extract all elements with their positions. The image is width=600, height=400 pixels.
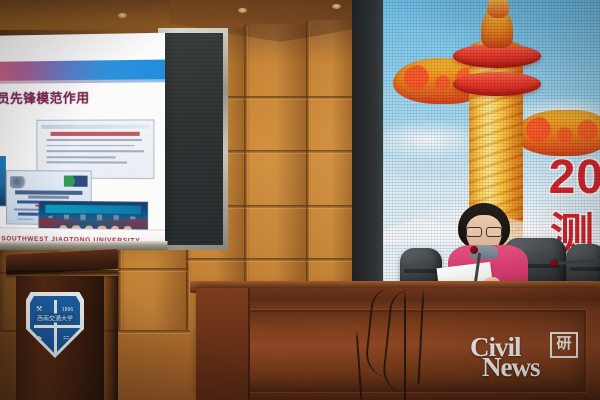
crest-quadrant-hammer: ⚒: [36, 306, 42, 313]
document-header-bar: [42, 125, 149, 129]
wall-groove-vertical: [306, 22, 309, 322]
huabiao-beast-icon: [487, 0, 509, 18]
acoustic-panel-center: [158, 28, 228, 250]
crest-divider-vertical: [54, 300, 57, 356]
crest-quadrant-year: 1896: [62, 308, 73, 313]
crest-university-name: 西南交通大学: [35, 314, 75, 323]
huabiao-ring-lower: [453, 72, 541, 96]
document-text-line: [46, 139, 141, 141]
cable: [404, 288, 406, 400]
slide-accent-line: [0, 79, 165, 84]
podium-side-edge: [104, 276, 118, 400]
wall-pilaster: [244, 24, 306, 324]
lectern-podium: ⚒ 1896 ✿ ⚏ 西南交通大学: [6, 252, 118, 400]
desk-left-column: [196, 288, 250, 400]
document-text-line: [46, 145, 134, 147]
wall-groove-horizontal: [118, 268, 188, 271]
projection-screen: 党员先锋模范作用: [0, 33, 165, 248]
acoustic-panel-surface: [163, 33, 223, 245]
projection-screen-frame: [0, 241, 167, 250]
wall-pilaster: [306, 20, 356, 320]
crest-quadrant-theodolite: ⚏: [63, 334, 69, 341]
ceiling-light-icon: [332, 4, 341, 9]
led-year-number: 20: [549, 150, 600, 205]
certificate-heading-line: [15, 190, 82, 195]
document-title-bar: [51, 132, 139, 136]
ceiling-light-icon: [238, 8, 247, 13]
wall-groove-horizontal: [186, 258, 358, 261]
document-text-line: [46, 162, 127, 164]
certificate-signature: [17, 218, 34, 220]
slide-title: 党员先锋模范作用: [0, 87, 90, 107]
microphone-head-center: [470, 246, 478, 254]
slide-gradient-band: [0, 60, 165, 81]
document-text-line: [46, 150, 143, 152]
group-photo-banner: [46, 205, 141, 214]
certificate-left-logo: [10, 176, 27, 188]
ita-aites-logo: [64, 176, 88, 187]
led-side-panel: [352, 0, 386, 292]
crest-divider-horizontal: [34, 325, 84, 328]
certificate-awarded-line: [29, 196, 69, 199]
microphone-head-right: [550, 259, 558, 267]
document-text-line: [46, 156, 115, 158]
glasses-icon: [466, 227, 502, 235]
ceiling-light-icon: [118, 13, 127, 18]
speaker-person: [440, 203, 536, 293]
photo-scene: 党员先锋模范作用: [0, 0, 600, 400]
